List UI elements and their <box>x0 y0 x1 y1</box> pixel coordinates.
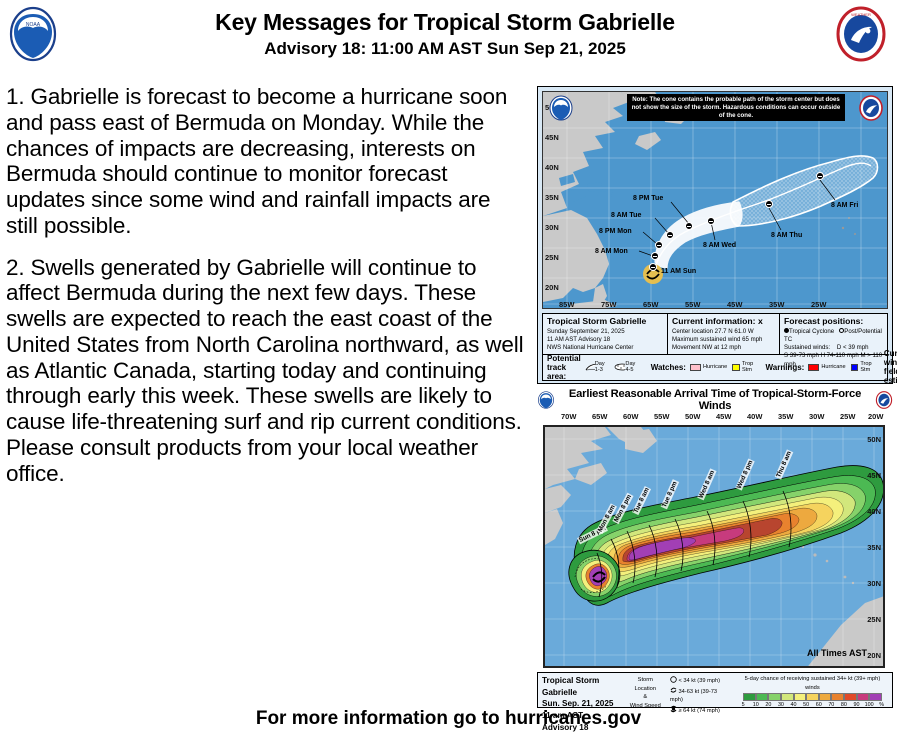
arr-lat-20n: 20N <box>867 651 881 660</box>
svg-text:WEATHER: WEATHER <box>851 12 871 17</box>
arr-lon-65w: 65W <box>592 412 607 421</box>
key-message-1-number: 1. <box>6 84 24 109</box>
arrival-wind-symbols: < 34 kt (39 mph) 34-63 kt (39-73 mph) ≥ … <box>666 673 733 707</box>
legend-warn-tropstm: Trop Stm <box>851 361 875 373</box>
forecast-position-8am-fri[interactable] <box>816 172 824 180</box>
forecast-label-8pm-mon: 8 PM Mon <box>599 228 632 235</box>
arr-lon-35w: 35W <box>778 412 793 421</box>
nws-logo: WEATHER <box>835 6 887 62</box>
arrival-map-image[interactable]: Sun 8 pm Mon 8 am Mon 8 pm Tue 8 am Tue … <box>543 425 885 668</box>
cone-current-info-head: Current information: <box>672 316 756 326</box>
arr-lat-30n: 30N <box>867 579 881 588</box>
wind-lt34-label: < 34 kt (39 mph) <box>678 678 720 684</box>
key-message-1-text: Gabrielle is forecast to become a hurric… <box>6 84 507 238</box>
watch-tropstm-label: Trop Stm <box>742 361 757 373</box>
day-1-3-cone-icon <box>585 363 595 371</box>
cone-lon-65w: 65W <box>643 300 658 309</box>
cone-map-geography <box>543 92 888 309</box>
day-4-5-cone-icon <box>614 363 626 371</box>
wind-34-63-label: 34-63 kt (39-73 mph) <box>670 689 717 704</box>
scale-swatches <box>737 693 888 701</box>
day-4-5-label: Day 4-5 <box>625 361 639 373</box>
legend-watch-hurricane: Hurricane <box>690 364 727 371</box>
cone-forecast-positions: Forecast positions: Tropical Cyclone Pos… <box>779 314 887 354</box>
arr-lon-55w: 55W <box>654 412 669 421</box>
svg-text:NOAA: NOAA <box>26 22 41 28</box>
forecast-label-8am-wed: 8 AM Wed <box>703 242 736 249</box>
forecast-position-8am-wed[interactable] <box>707 217 715 225</box>
cone-wind-d: D < 39 mph <box>837 344 869 351</box>
cone-forecast-panel: 11 AM Sun 8 AM Mon 8 PM Mon 8 AM Tue 8 P… <box>537 86 893 384</box>
forecast-position-8pm-mon[interactable] <box>655 241 663 249</box>
arr-lon-20w: 20W <box>868 412 883 421</box>
storm-location-amp: & <box>629 693 662 702</box>
cone-lat-35n: 35N <box>545 193 559 202</box>
warn-tropstm-swatch <box>851 364 859 371</box>
legend-warn-hurricane: Hurricane <box>808 364 845 371</box>
arrival-probability-scale: 5-day chance of receiving sustained 34+ … <box>733 673 892 707</box>
scale-swatch-20 <box>768 693 781 701</box>
scale-swatch-40 <box>794 693 807 701</box>
cone-lon-35w: 35W <box>769 300 784 309</box>
cone-lat-45n: 45N <box>545 133 559 142</box>
cone-storm-advisory: 11 AM AST Advisory 18 <box>547 336 663 344</box>
forecast-label-8am-fri: 8 AM Fri <box>831 202 858 209</box>
day-1-3-label: Day 1-3 <box>595 361 609 373</box>
arr-lon-50w: 50W <box>685 412 700 421</box>
forecast-label-8am-thu: 8 AM Thu <box>771 232 802 239</box>
cone-lat-25n: 25N <box>545 253 559 262</box>
cone-lon-55w: 55W <box>685 300 700 309</box>
cone-lon-45w: 45W <box>727 300 742 309</box>
wind-symbol-row-1: < 34 kt (39 mph) <box>670 676 729 686</box>
cone-storm-date: Sunday September 21, 2025 <box>547 328 663 336</box>
page-title: Key Messages for Tropical Storm Gabriell… <box>90 10 800 36</box>
scale-swatch-60 <box>819 693 832 701</box>
cone-lat-30n: 30N <box>545 223 559 232</box>
arrival-symbol-labels: Storm Location & Wind Speed <box>625 673 666 707</box>
arr-lat-50n: 50N <box>867 435 881 444</box>
title-block: Key Messages for Tropical Storm Gabriell… <box>90 10 800 59</box>
arr-lon-60w: 60W <box>623 412 638 421</box>
arr-lat-40n: 40N <box>867 507 881 516</box>
arr-lon-40w: 40W <box>747 412 762 421</box>
arr-lat-45n: 45N <box>867 471 881 480</box>
tropical-storm-icon <box>670 686 677 694</box>
arrival-map-geography <box>545 427 885 668</box>
forecast-position-8am-thu[interactable] <box>765 200 773 208</box>
wind-symbol-row-2: 34-63 kt (39-73 mph) <box>670 686 729 705</box>
forecast-label-8am-tue: 8 AM Tue <box>611 212 641 219</box>
scale-title: 5-day chance of receiving sustained 34+ … <box>737 675 888 692</box>
arrival-lon-axis: 70W 65W 60W 55W 50W 45W 40W 35W 30W 25W … <box>537 412 893 424</box>
warn-hurricane-swatch <box>808 364 819 371</box>
arrival-map-header: Earliest Reasonable Arrival Time of Trop… <box>537 390 893 410</box>
cone-potential-track-head: Potential track area: <box>547 354 581 381</box>
cone-storm-name: Tropical Storm Gabrielle <box>547 316 663 326</box>
arrival-map-title: Earliest Reasonable Arrival Time of Trop… <box>555 388 875 412</box>
watch-hurricane-swatch <box>690 364 701 371</box>
cone-movement: Movement NW at 12 mph <box>672 344 775 352</box>
scale-swatch-5 <box>743 693 756 701</box>
arrival-legend-panel: Tropical Storm Gabrielle Sun. Sep. 21, 2… <box>537 672 893 708</box>
forecast-label-8pm-tue: 8 PM Tue <box>633 195 663 202</box>
cone-current-information: Current information: x Center location 2… <box>667 314 779 354</box>
forecast-label-8am-mon: 8 AM Mon <box>595 248 628 255</box>
scale-swatch-70 <box>831 693 844 701</box>
arrival-storm-identity: Tropical Storm Gabrielle Sun. Sep. 21, 2… <box>538 673 625 707</box>
arrival-noaa-icon <box>537 391 555 409</box>
cone-sustained-winds-label: Sustained winds: <box>784 344 830 351</box>
forecast-position-11am-sun[interactable] <box>649 263 657 271</box>
arr-lat-35n: 35N <box>867 543 881 552</box>
cone-max-wind: Maximum sustained wind 65 mph <box>672 336 775 344</box>
key-message-2: 2.Swells generated by Gabrielle will con… <box>6 255 526 487</box>
cone-current-info-symbol: x <box>758 316 763 326</box>
cone-watches-head: Watches: <box>651 363 686 372</box>
page-header: NOAA WEATHER Key Messages for Tropical S… <box>0 0 897 72</box>
scale-swatch-30 <box>781 693 794 701</box>
cone-tropical-cyclone-label: Tropical Cyclone <box>789 328 834 335</box>
forecast-position-8am-tue[interactable] <box>666 231 674 239</box>
cone-nws-icon <box>859 95 883 121</box>
cone-symbol-row: Tropical Cyclone Post/Potential TC <box>784 328 883 345</box>
warn-tropstm-label: Trop Stm <box>860 361 875 373</box>
key-message-2-number: 2. <box>6 255 24 280</box>
cone-lat-20n: 20N <box>545 283 559 292</box>
key-message-2-text: Swells generated by Gabrielle will conti… <box>6 255 523 486</box>
forecast-label-11am-sun: 11 AM Sun <box>661 268 696 275</box>
cone-storm-agency: NWS National Hurricane Center <box>547 344 663 352</box>
arrival-map-panel: 70W 65W 60W 55W 50W 45W 40W 35W 30W 25W … <box>537 412 893 670</box>
scale-swatch-100 <box>869 693 882 701</box>
arrival-storm-name: Tropical Storm Gabrielle <box>542 675 621 698</box>
forecast-position-8pm-tue[interactable] <box>685 222 693 230</box>
cone-warnings-head: Warnings: <box>766 363 805 372</box>
footer-note: For more information go to hurricanes.go… <box>0 708 897 730</box>
scale-swatch-80 <box>844 693 857 701</box>
warn-hurricane-label: Hurricane <box>821 364 845 370</box>
key-message-1: 1.Gabrielle is forecast to become a hurr… <box>6 84 526 239</box>
arrival-nws-icon <box>875 391 893 409</box>
cone-lon-85w: 85W <box>559 300 574 309</box>
page-subtitle: Advisory 18: 11:00 AM AST Sun Sep 21, 20… <box>90 39 800 59</box>
scale-swatch-50 <box>806 693 819 701</box>
arr-lat-25n: 25N <box>867 615 881 624</box>
cone-legend-panel: Tropical Storm Gabrielle Sunday Septembe… <box>542 313 888 381</box>
cone-lon-75w: 75W <box>601 300 616 309</box>
legend-watch-tropstm: Trop Stm <box>732 361 756 373</box>
cone-storm-identity: Tropical Storm Gabrielle Sunday Septembe… <box>543 314 667 354</box>
cone-wind-field-head: Current wind field estimate: <box>884 349 897 385</box>
forecast-position-8am-mon[interactable] <box>651 252 659 260</box>
arr-lon-70w: 70W <box>561 412 576 421</box>
cone-center-location: Center location 27.7 N 61.0 W <box>672 328 775 336</box>
cone-lon-25w: 25W <box>811 300 826 309</box>
noaa-logo: NOAA <box>8 6 58 62</box>
watch-tropstm-swatch <box>732 364 740 371</box>
watch-hurricane-label: Hurricane <box>703 364 727 370</box>
arr-lon-30w: 30W <box>809 412 824 421</box>
cone-map-image[interactable]: 11 AM Sun 8 AM Mon 8 PM Mon 8 AM Tue 8 P… <box>542 91 888 309</box>
scale-swatch-10 <box>756 693 769 701</box>
arr-lon-45w: 45W <box>716 412 731 421</box>
legend-day-1-3: Day 1-3 <box>585 361 609 373</box>
storm-location-label: Storm Location <box>629 676 662 693</box>
key-messages-list: 1.Gabrielle is forecast to become a hurr… <box>6 84 526 502</box>
cone-noaa-icon <box>549 95 573 121</box>
arr-lon-25w: 25W <box>840 412 855 421</box>
all-times-label: All Times AST <box>807 648 867 658</box>
scale-swatch-90 <box>857 693 870 701</box>
cone-forecast-positions-head: Forecast positions: <box>784 316 883 326</box>
cone-lat-40n: 40N <box>545 163 559 172</box>
open-circle-icon <box>670 676 677 683</box>
legend-day-4-5: Day 4-5 <box>614 361 640 373</box>
cone-disclaimer-note: Note: The cone contains the probable pat… <box>627 94 845 121</box>
